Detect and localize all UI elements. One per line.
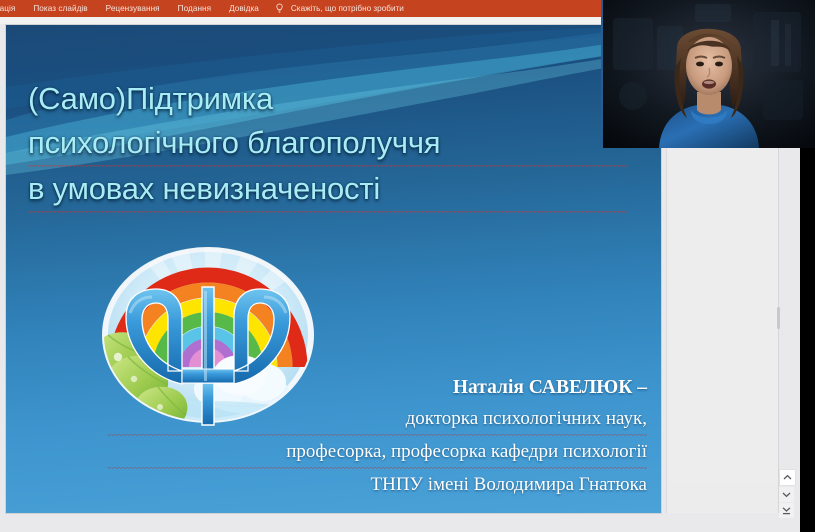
slide-title[interactable]: (Само)Підтримка психологічного благополу… bbox=[28, 77, 628, 213]
lightbulb-icon bbox=[274, 3, 285, 14]
ribbon-tab-review[interactable]: Рецензування bbox=[97, 0, 169, 17]
tell-me-label: Скажіть, що потрібно зробити bbox=[291, 4, 404, 13]
author-degree-2: професорка, професорка кафедри психологі… bbox=[107, 436, 647, 469]
title-line-2: психологічного благополуччя bbox=[28, 121, 628, 167]
author-name: Наталія САВЕЛЮК – bbox=[107, 373, 647, 403]
title-line-1: (Само)Підтримка bbox=[28, 77, 628, 121]
vertical-scrollbar-thumb[interactable] bbox=[777, 307, 780, 329]
slide-surface[interactable]: (Само)Підтримка психологічного благополу… bbox=[6, 25, 661, 513]
presenter-video[interactable] bbox=[601, 0, 815, 148]
author-affiliation: ТНПУ імені Володимира Гнатюка bbox=[107, 469, 647, 500]
ribbon-tab-view[interactable]: Подання bbox=[169, 0, 220, 17]
author-degree-1: докторка психологічних наук, bbox=[107, 403, 647, 436]
tell-me-box[interactable]: Скажіть, що потрібно зробити bbox=[268, 3, 404, 14]
scroll-previous-button[interactable] bbox=[779, 469, 796, 486]
title-line-3: в умовах невизначеності bbox=[28, 167, 628, 213]
ribbon-tab-help[interactable]: Довідка bbox=[220, 0, 268, 17]
scroll-next-button[interactable] bbox=[779, 487, 794, 502]
slide-nav-buttons bbox=[779, 469, 796, 519]
screen-right-gutter bbox=[800, 148, 815, 532]
ribbon-tab-slideshow[interactable]: Показ слайдів bbox=[24, 0, 96, 17]
author-block[interactable]: Наталія САВЕЛЮК – докторка психологічних… bbox=[107, 373, 647, 500]
presenter-video-frame bbox=[603, 0, 815, 148]
ribbon-tab-animation[interactable]: мація bbox=[0, 0, 24, 17]
scroll-end-button[interactable] bbox=[779, 503, 794, 518]
